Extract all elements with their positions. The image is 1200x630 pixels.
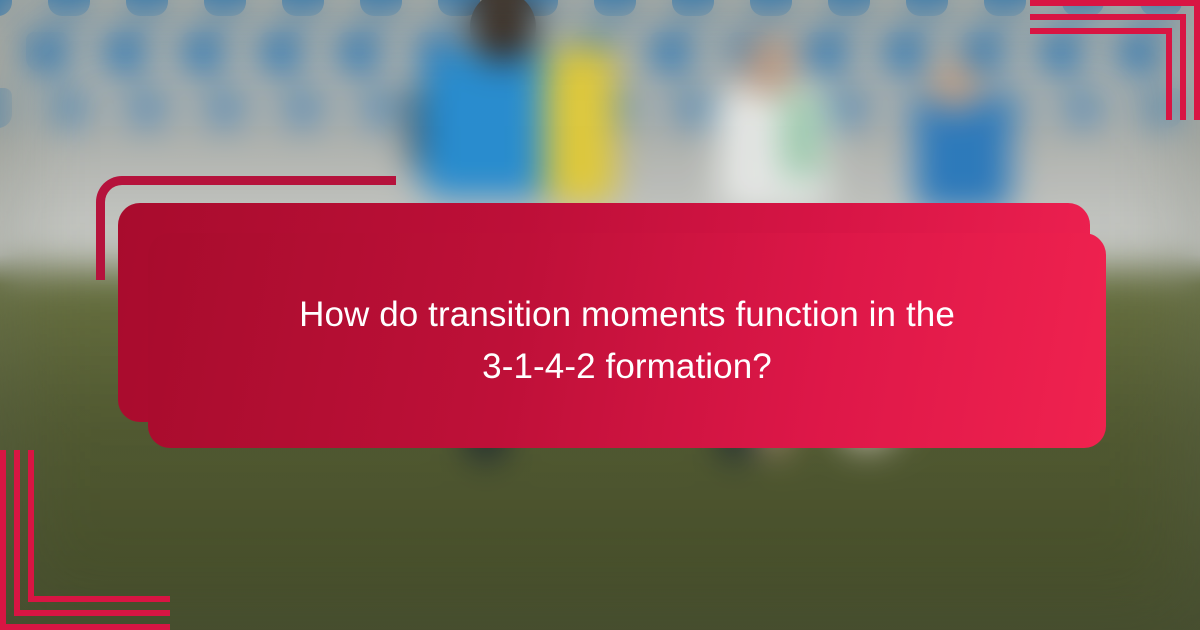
headline-line-2: 3-1-4-2 formation? (482, 341, 772, 393)
corner-bracket-bottom-left-icon (0, 450, 170, 630)
corner-bracket-top-right-icon (1030, 0, 1200, 120)
headline-card: How do transition moments function in th… (96, 176, 1106, 448)
card-headline: How do transition moments function in th… (148, 233, 1106, 448)
headline-line-1: How do transition moments function in th… (299, 289, 955, 341)
share-card-canvas: How do transition moments function in th… (0, 0, 1200, 630)
